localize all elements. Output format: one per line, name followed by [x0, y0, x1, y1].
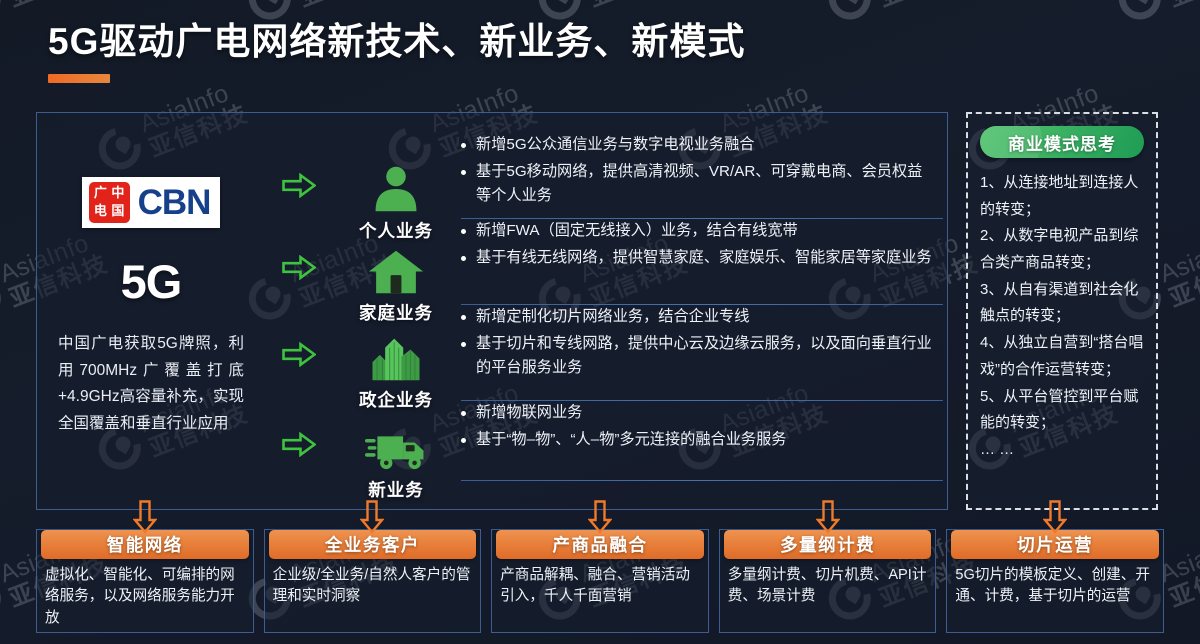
business-icon-item: 新业务	[337, 418, 455, 502]
business-icon-item: 家庭业务	[337, 241, 455, 325]
watermark-cn-text: 亚信科技	[1166, 252, 1200, 312]
bullet-text: 基于切片和专线网路，提供中心云及边缘云服务，以及面向垂直行业的平台服务业务	[476, 332, 937, 381]
bullet-dot-icon	[461, 411, 466, 416]
arrow-down-icon	[133, 500, 157, 534]
bullet-text: 新增物联网业务	[476, 401, 582, 426]
business-model-item: … …	[980, 437, 1144, 464]
business-model-item: 5、从平台管控到平台赋能的转变；	[980, 384, 1144, 437]
bullet-item: 新增物联网业务	[461, 401, 937, 426]
cbn-wordmark: CBN	[138, 185, 211, 220]
capability-card-body: 企业级/全业务/自然人客户的管理和实时洞察	[265, 559, 481, 608]
business-icon-column: 个人业务家庭业务政企业务新业务	[337, 113, 455, 509]
left-column: 广 中 电 国 CBN 5G 中国广电获取5G牌照，利用700MHz广覆盖打底+…	[37, 113, 265, 509]
arrow-right-icon	[282, 255, 316, 280]
green-arrow-column	[265, 113, 337, 509]
bullet-dot-icon	[461, 170, 466, 175]
main-content-frame: 广 中 电 国 CBN 5G 中国广电获取5G牌照，利用700MHz广覆盖打底+…	[36, 112, 948, 510]
title-underline-rule	[48, 74, 110, 83]
page-title: 5G驱动广电网络新技术、新业务、新模式	[48, 22, 1200, 63]
bullet-text: 新增FWA（固定无线接入）业务，结合有线宽带	[476, 219, 798, 244]
capability-card-title: 产商品融合	[552, 532, 647, 557]
arrow-right-icon	[282, 173, 316, 198]
capability-card[interactable]: 全业务客户企业级/全业务/自然人客户的管理和实时洞察	[264, 529, 482, 633]
capability-card-header: 全业务客户	[269, 530, 477, 559]
bullet-dot-icon	[461, 256, 466, 261]
bullet-item: 新增FWA（固定无线接入）业务，结合有线宽带	[461, 219, 937, 244]
business-icon-label: 家庭业务	[359, 300, 433, 325]
arrow-down-icon	[588, 500, 612, 534]
capability-card-title: 多量纲计费	[780, 532, 875, 557]
arrow-down-icon	[1043, 500, 1067, 534]
bullet-dot-icon	[461, 229, 466, 234]
bullet-item: 新增定制化切片网络业务，结合企业专线	[461, 305, 937, 330]
business-model-badge: 商业模式思考	[980, 126, 1144, 158]
bullet-text: 新增定制化切片网络业务，结合企业专线	[476, 305, 749, 330]
row-divider	[461, 480, 943, 481]
cbn-logo: 广 中 电 国 CBN	[82, 177, 221, 228]
bullet-item: 基于5G移动网络，提供高清视频、VR/AR、可穿戴电商、会员权益等个人业务	[461, 160, 937, 209]
business-icon-label: 新业务	[368, 477, 424, 502]
bullet-item: 基于切片和专线网路，提供中心云及边缘云服务，以及面向垂直行业的平台服务业务	[461, 332, 937, 381]
arrow-down-icon	[360, 500, 384, 534]
arrow-down-icon	[816, 500, 840, 534]
capability-card-header: 产商品融合	[496, 530, 704, 559]
slide-header: 5G驱动广电网络新技术、新业务、新模式	[0, 0, 1200, 83]
bullet-dot-icon	[461, 315, 466, 320]
home-icon	[367, 241, 425, 295]
bullet-text: 新增5G公众通信业务与数字电视业务融合	[476, 133, 754, 158]
bullet-group: 新增物联网业务基于“物–物”、“人–物”多元连接的融合业务服务	[461, 401, 937, 481]
capability-card-title: 切片运营	[1017, 532, 1093, 557]
cbn-logo-mark-icon: 广 中 电 国	[89, 182, 130, 223]
capability-card[interactable]: 多量纲计费多量纲计费、切片机费、API计费、场景计费	[719, 529, 937, 633]
arrow-right-icon	[282, 432, 316, 457]
business-icon-item: 个人业务	[337, 159, 455, 243]
business-model-badge-label: 商业模式思考	[1008, 130, 1116, 155]
bullet-text: 基于“物–物”、“人–物”多元连接的融合业务服务	[476, 428, 787, 453]
cbn-logo-char-4: 国	[111, 205, 124, 218]
bottom-card-row: 智能网络虚拟化、智能化、可编排的网络服务，以及网络服务能力开放全业务客户企业级/…	[36, 529, 1164, 633]
cbn-logo-char-3: 电	[94, 205, 107, 218]
business-model-item: 3、从自有渠道到社会化触点的转变；	[980, 277, 1144, 330]
slide-root: AsiaInfo亚信科技AsiaInfo亚信科技AsiaInfo亚信科技Asia…	[0, 0, 1200, 644]
bullet-dot-icon	[461, 143, 466, 148]
capability-card-title: 全业务客户	[325, 532, 420, 557]
business-icon-label: 个人业务	[359, 218, 433, 243]
watermark-swoosh-icon	[0, 269, 8, 327]
business-model-item: 2、从数字电视产品到综合类产商品转变；	[980, 223, 1144, 276]
watermark-swoosh-icon	[0, 569, 8, 627]
watermark-en-text: AsiaInfo	[1157, 227, 1200, 288]
business-icon-item: 政企业务	[337, 328, 455, 412]
capability-card-body: 多量纲计费、切片机费、API计费、场景计费	[720, 559, 936, 608]
watermark-cn-text: 亚信科技	[1166, 552, 1200, 612]
capability-card-header: 智能网络	[41, 530, 249, 559]
capability-card[interactable]: 产商品融合产商品解耦、融合、营销活动引入，千人千面营销	[491, 529, 709, 633]
capability-card-body: 虚拟化、智能化、可编排的网络服务，以及网络服务能力开放	[37, 559, 253, 629]
business-model-item: 1、从连接地址到连接人的转变；	[980, 170, 1144, 223]
bullet-item: 新增5G公众通信业务与数字电视业务融合	[461, 133, 937, 158]
capability-card-body: 5G切片的模板定义、创建、开通、计费，基于切片的运营	[947, 559, 1163, 608]
capability-card-header: 切片运营	[951, 530, 1159, 559]
left-description-text: 中国广电获取5G牌照，利用700MHz广覆盖打底+4.9GHz高容量补充，实现全…	[58, 331, 244, 438]
capability-card-title: 智能网络	[107, 532, 183, 557]
capability-card[interactable]: 智能网络虚拟化、智能化、可编排的网络服务，以及网络服务能力开放	[36, 529, 254, 633]
bullet-dot-icon	[461, 342, 466, 347]
truck-icon	[365, 418, 427, 472]
arrow-right-icon	[282, 342, 316, 367]
bullet-dot-icon	[461, 438, 466, 443]
business-model-item: 4、从独立自营到“搭台唱戏”的合作运营转变；	[980, 330, 1144, 383]
bullet-text: 基于有线无线网络，提供智慧家庭、家庭娱乐、智能家居等家庭业务	[476, 246, 932, 271]
business-icon-label: 政企业务	[359, 387, 433, 412]
capability-card[interactable]: 切片运营5G切片的模板定义、创建、开通、计费，基于切片的运营	[946, 529, 1164, 633]
bullet-item: 基于“物–物”、“人–物”多元连接的融合业务服务	[461, 428, 937, 453]
person-icon	[371, 159, 421, 213]
business-model-panel: 商业模式思考 1、从连接地址到连接人的转变；2、从数字电视产品到综合类产商品转变…	[966, 112, 1158, 510]
bullet-text: 基于5G移动网络，提供高清视频、VR/AR、可穿戴电商、会员权益等个人业务	[476, 160, 937, 209]
bullets-column: 新增5G公众通信业务与数字电视业务融合基于5G移动网络，提供高清视频、VR/AR…	[455, 113, 947, 509]
five-g-label: 5G	[121, 254, 182, 309]
bullet-item: 基于有线无线网络，提供智慧家庭、家庭娱乐、智能家居等家庭业务	[461, 246, 937, 271]
buildings-icon	[367, 328, 425, 382]
capability-card-header: 多量纲计费	[724, 530, 932, 559]
cbn-logo-char-2: 中	[111, 187, 124, 200]
bullet-group: 新增FWA（固定无线接入）业务，结合有线宽带基于有线无线网络，提供智慧家庭、家庭…	[461, 219, 937, 305]
bullet-group: 新增5G公众通信业务与数字电视业务融合基于5G移动网络，提供高清视频、VR/AR…	[461, 133, 937, 219]
business-model-list: 1、从连接地址到连接人的转变；2、从数字电视产品到综合类产商品转变；3、从自有渠…	[980, 170, 1144, 464]
cbn-logo-char-1: 广	[94, 187, 107, 200]
bullet-group: 新增定制化切片网络业务，结合企业专线基于切片和专线网路，提供中心云及边缘云服务，…	[461, 305, 937, 401]
capability-card-body: 产商品解耦、融合、营销活动引入，千人千面营销	[492, 559, 708, 608]
